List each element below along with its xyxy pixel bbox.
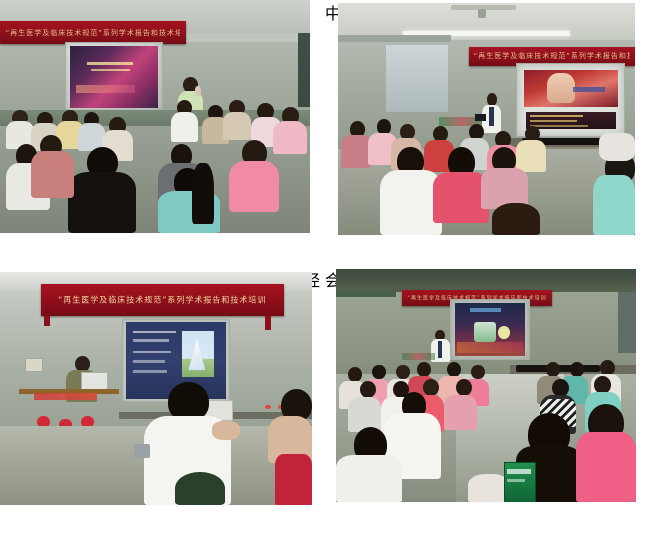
banner-1: “再生医学及临床技术规范”系列学术报告和技术培训	[0, 21, 186, 44]
projection-screen-1	[65, 42, 163, 112]
banner-text: “再生医学及临床技术规范”系列学术报告和技术培训	[6, 28, 181, 38]
photo-4[interactable]: “再生医学及临床技术规范”系列学术报告和技术培训	[336, 269, 636, 502]
banner-text: “再生医学及临床技术规范”系列学术报告和技术培训	[48, 294, 277, 305]
gallery-cell-4: “再生医学及临床技术规范”系列学术报告和技术培训	[325, 267, 650, 534]
gallery-cell-2: “再生医学及临床技术规范”系列学术报告和技术培训	[325, 0, 650, 267]
gallery-cell-1: “再生医学及临床技术规范”系列学术报告和技术培训	[0, 0, 325, 267]
photo-2[interactable]: “再生医学及临床技术规范”系列学术报告和技术培训	[338, 3, 635, 235]
photo-gallery: “再生医学及临床技术规范”系列学术报告和技术培训	[0, 0, 650, 534]
gallery-cell-3: “再生医学及临床技术规范”系列学术报告和技术培训	[0, 267, 325, 534]
projection-screen-4	[450, 299, 530, 359]
photo-1[interactable]: “再生医学及临床技术规范”系列学术报告和技术培训	[0, 0, 310, 233]
banner-3: “再生医学及临床技术规范”系列学术报告和技术培训	[41, 284, 284, 317]
banner-text: “再生医学及临床技术规范”系列学术报告和技术培训	[474, 51, 630, 61]
photo-3[interactable]: “再生医学及临床技术规范”系列学术报告和技术培训	[0, 272, 312, 505]
